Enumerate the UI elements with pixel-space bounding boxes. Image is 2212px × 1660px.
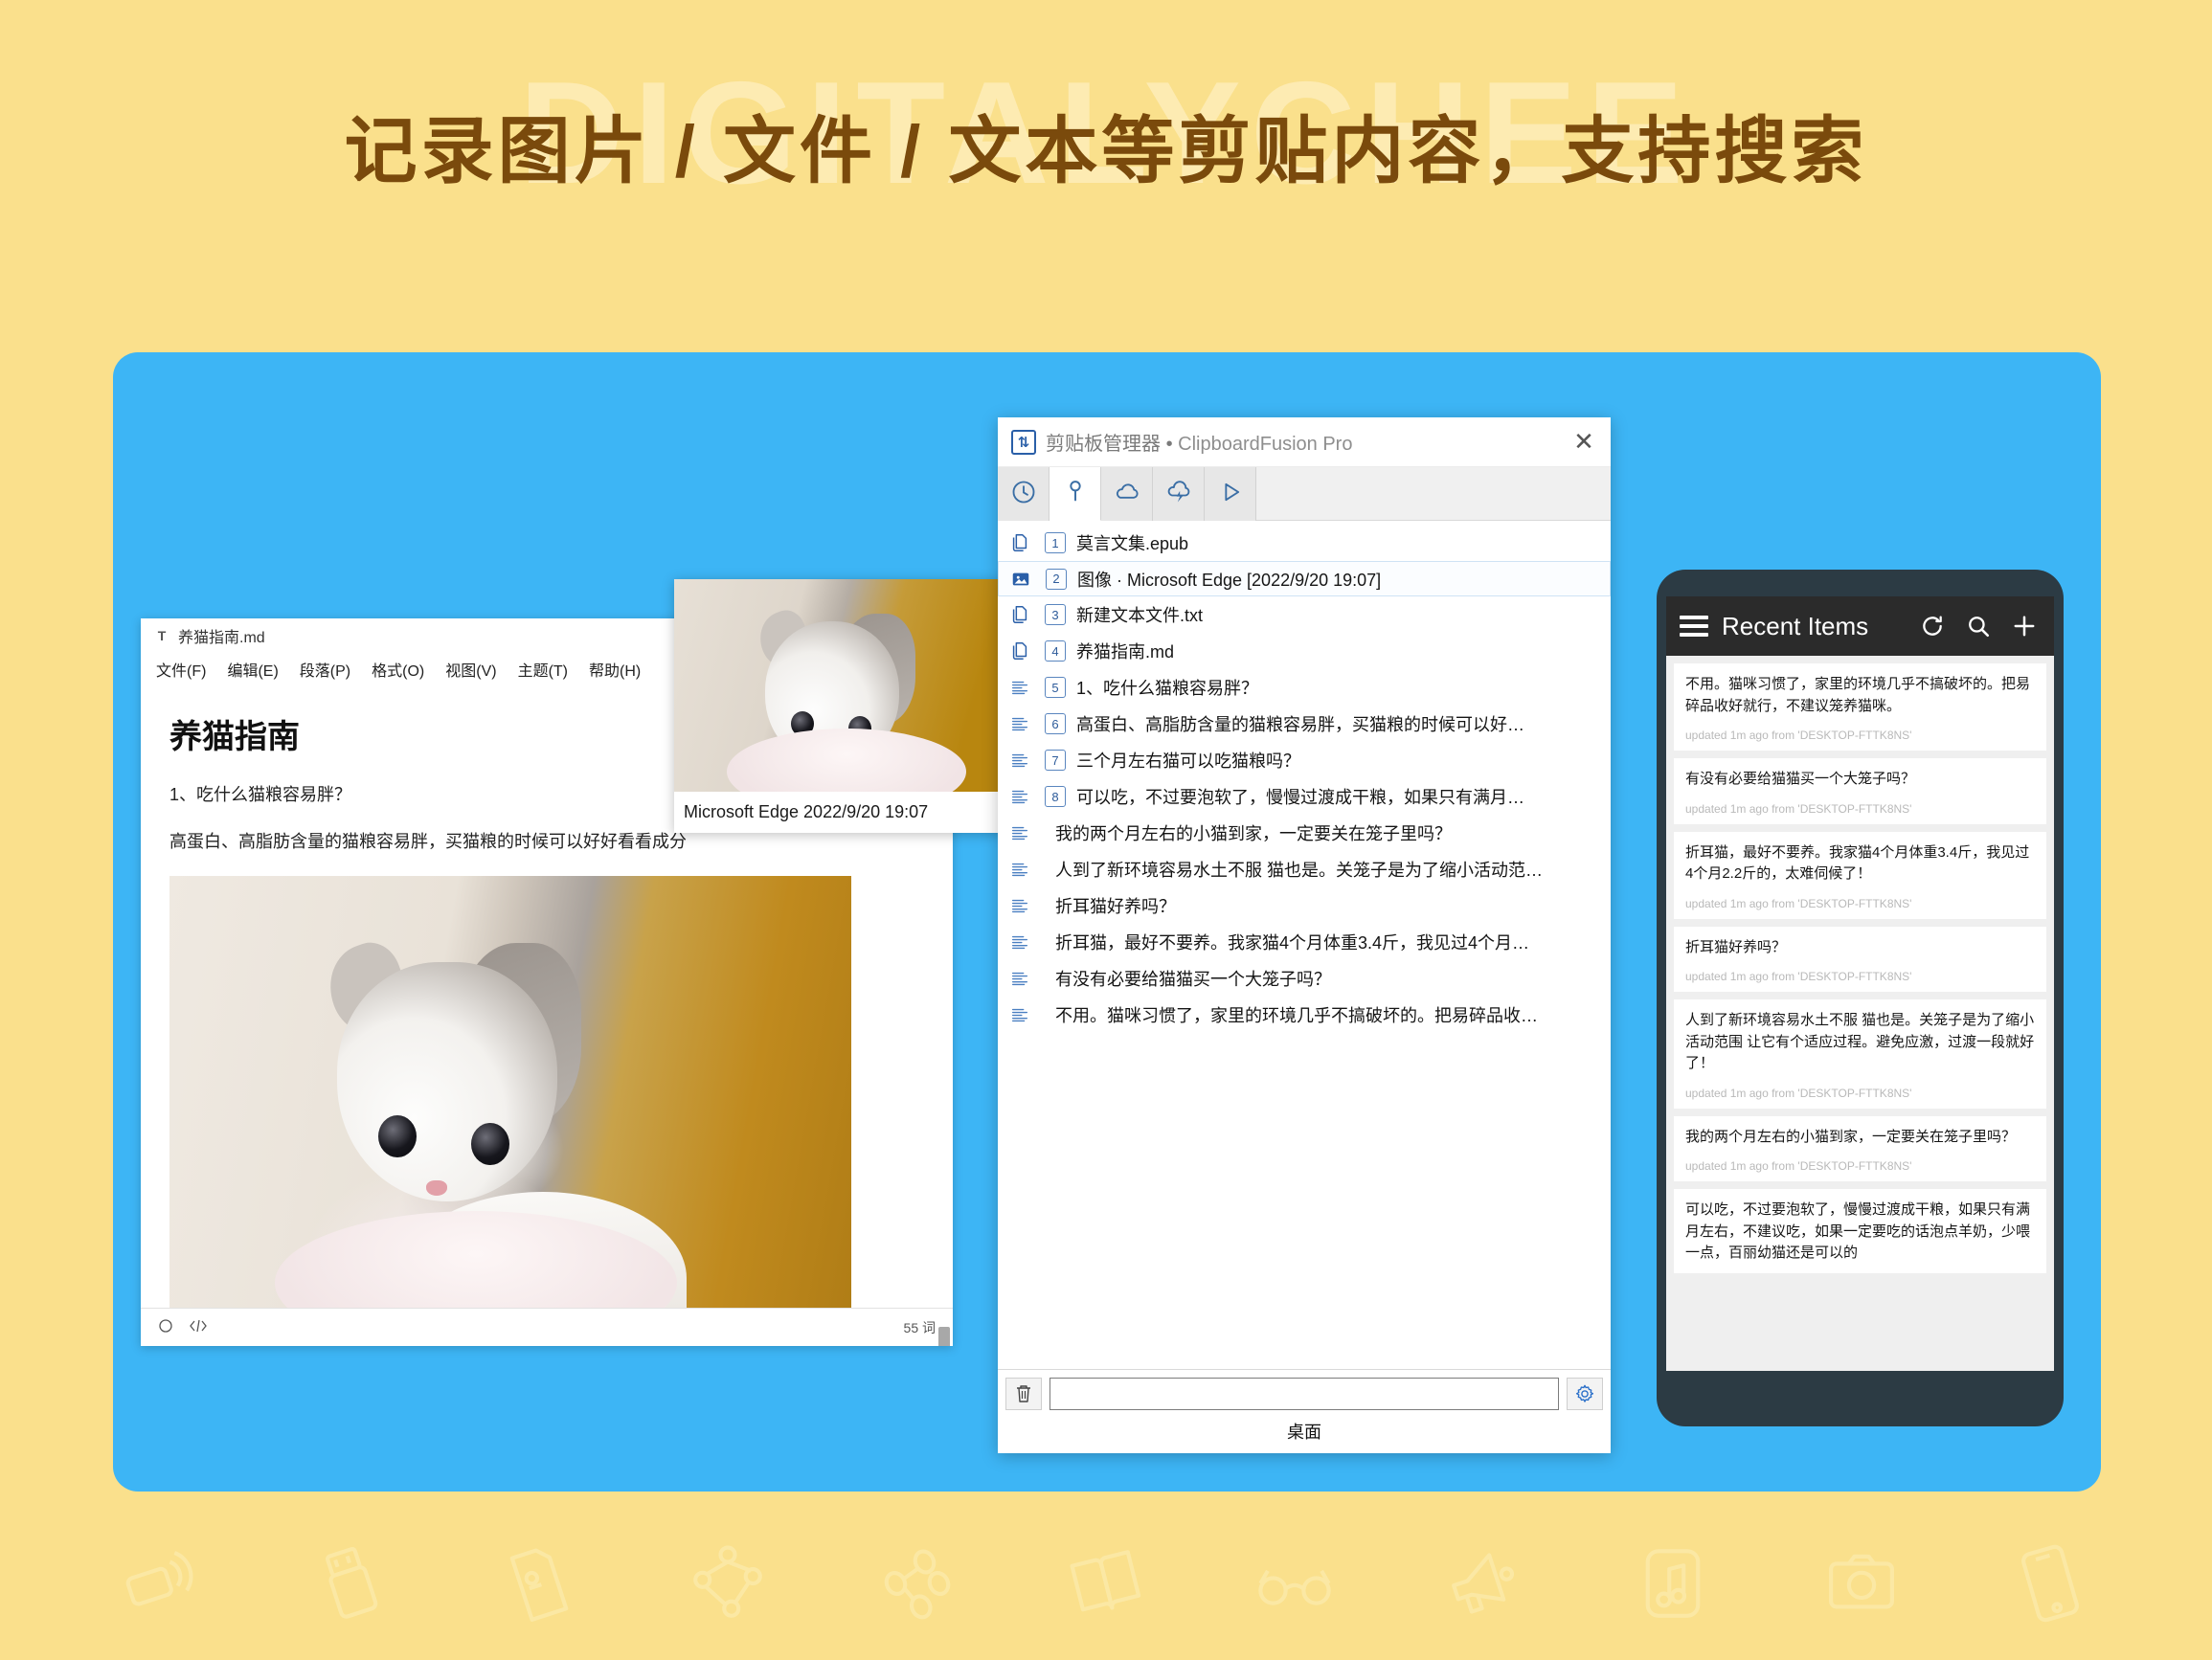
page-title: 记录图片 / 文件 / 文本等剪贴内容，支持搜索 (0, 92, 2212, 197)
menu-file[interactable]: 文件(F) (156, 658, 206, 681)
markdown-file-name: 养猫指南.md (178, 624, 265, 647)
text-lines-icon (1009, 713, 1034, 734)
text-lines-icon (1009, 677, 1034, 698)
close-icon[interactable]: ✕ (1567, 425, 1601, 460)
book-icon (1063, 1540, 1149, 1626)
item-index-badge: 7 (1045, 750, 1066, 771)
word-count: 55 词 (904, 1318, 936, 1337)
document-kitten-image (169, 876, 851, 1316)
menu-help[interactable]: 帮助(H) (589, 658, 641, 681)
phone-card-body: 折耳猫，最好不要养。我家猫4个月体重3.4斤，我见过4个月2.2斤的，太难伺候了… (1685, 842, 2035, 886)
text-lines-icon (1009, 859, 1034, 880)
clipboard-list-item[interactable]: 我的两个月左右的小猫到家，一定要关在笼子里吗？ (998, 815, 1611, 851)
clipboard-list-item[interactable]: 7三个月左右猫可以吃猫粮吗？ (998, 742, 1611, 778)
clipboard-list-item[interactable]: 6高蛋白、高脂肪含量的猫粮容易胖，买猫粮的时候可以好… (998, 706, 1611, 742)
phone-card[interactable]: 折耳猫，最好不要养。我家猫4个月体重3.4斤，我见过4个月2.2斤的，太难伺候了… (1674, 832, 2046, 919)
clipboard-app-title: 剪贴板管理器 (1046, 434, 1161, 455)
item-index-badge: 3 (1045, 604, 1066, 625)
item-index-badge: 1 (1045, 532, 1066, 553)
phone-card-body: 有没有必要给猫猫买一个大笼子吗？ (1685, 769, 2035, 791)
clipboard-tabbar (998, 467, 1611, 521)
search-icon[interactable] (1962, 610, 1995, 642)
megaphone-icon (1440, 1540, 1526, 1626)
phone-card-body: 折耳猫好养吗？ (1685, 937, 2035, 959)
image-preview-caption: Microsoft Edge 2022/9/20 19:07 (674, 792, 1004, 833)
share-nodes-icon (874, 1540, 960, 1626)
glasses-icon (1252, 1540, 1338, 1626)
file-copy-icon (1009, 604, 1034, 625)
circle-icon[interactable] (158, 1318, 173, 1337)
clipboard-list-item[interactable]: 折耳猫好养吗？ (998, 887, 1611, 924)
clipboard-item-text: 养猫指南.md (1076, 639, 1174, 663)
phone-card-meta: updated 1m ago from 'DESKTOP-FTTK8NS' (1685, 1159, 2035, 1173)
item-index-badge: 5 (1045, 677, 1066, 698)
item-index-badge: 8 (1045, 786, 1066, 807)
phone-card-meta: updated 1m ago from 'DESKTOP-FTTK8NS' (1685, 970, 2035, 983)
clipboard-item-text: 我的两个月左右的小猫到家，一定要关在笼子里吗？ (1055, 820, 1452, 845)
item-index-badge: 4 (1045, 640, 1066, 662)
image-preview-window: Microsoft Edge 2022/9/20 19:07 (674, 579, 1004, 833)
clipboard-item-text: 人到了新环境容易水土不服 猫也是。关笼子是为了缩小活动范… (1055, 857, 1543, 882)
phone-card-body: 人到了新环境容易水土不服 猫也是。关笼子是为了缩小活动范围 让它有个适应过程。避… (1685, 1010, 2035, 1075)
text-lines-icon (1009, 1004, 1034, 1025)
clipboard-list-item[interactable]: 3新建文本文件.txt (998, 596, 1611, 633)
item-index-badge: 2 (1046, 569, 1067, 590)
clipboard-item-text: 有没有必要给猫猫买一个大笼子吗？ (1055, 966, 1331, 991)
document-paragraph-2: 高蛋白、高脂肪含量的猫粮容易胖，买猫粮的时候可以好好看看成分 (169, 829, 924, 855)
usb-icon (307, 1540, 394, 1626)
clipboard-list-item[interactable]: 人到了新环境容易水土不服 猫也是。关笼子是为了缩小活动范… (998, 851, 1611, 887)
phone-card[interactable]: 可以吃，不过要泡软了，慢慢过渡成干粮，如果只有满月左右，不建议吃，如果一定要吃的… (1674, 1189, 2046, 1273)
menu-edit[interactable]: 编辑(E) (227, 658, 278, 681)
item-index-badge: 6 (1045, 713, 1066, 734)
menu-format[interactable]: 格式(O) (372, 658, 424, 681)
clipboard-item-text: 高蛋白、高脂肪含量的猫粮容易胖，买猫粮的时候可以好… (1076, 711, 1524, 736)
refresh-icon[interactable] (1916, 610, 1949, 642)
tab-pinned[interactable] (1050, 467, 1101, 521)
hamburger-icon[interactable] (1680, 616, 1708, 637)
phone-device-icon (2007, 1540, 2093, 1626)
text-file-icon: T (154, 628, 169, 643)
menu-view[interactable]: 视图(V) (445, 658, 496, 681)
phone-screen: Recent Items 不用。猫咪习惯了，家里的环境几乎不搞破坏的。把易碎品收… (1666, 596, 2054, 1371)
clipboard-list-item[interactable]: 1莫言文集.epub (998, 525, 1611, 561)
phone-card-meta: updated 1m ago from 'DESKTOP-FTTK8NS' (1685, 802, 2035, 816)
phone-card[interactable]: 有没有必要给猫猫买一个大笼子吗？updated 1m ago from 'DES… (1674, 758, 2046, 824)
text-lines-icon (1009, 931, 1034, 953)
clock-icon (1010, 479, 1037, 510)
text-lines-icon (1009, 822, 1034, 843)
music-note-icon (1630, 1540, 1716, 1626)
tab-history[interactable] (998, 467, 1050, 521)
sd-card-icon (496, 1540, 582, 1626)
decorative-icon-strip (0, 1507, 2212, 1660)
phone-card[interactable]: 折耳猫好养吗？updated 1m ago from 'DESKTOP-FTTK… (1674, 927, 2046, 993)
clipboard-item-text: 图像 · Microsoft Edge [2022/9/20 19:07] (1077, 567, 1381, 592)
image-icon (1010, 569, 1035, 590)
phone-card-body: 不用。猫咪习惯了，家里的环境几乎不搞破坏的。把易碎品收好就行，不建议笼养猫咪。 (1685, 674, 2035, 717)
clipboard-item-text: 新建文本文件.txt (1076, 602, 1203, 627)
clipboard-sync-icon: ⇅ (1011, 430, 1036, 455)
play-icon (1217, 479, 1244, 510)
code-icon[interactable] (189, 1318, 208, 1337)
cloud-icon (1114, 479, 1140, 510)
text-lines-icon (1009, 895, 1034, 916)
tab-cloud[interactable] (1101, 467, 1153, 521)
clipboard-item-list[interactable]: 1莫言文集.epub2图像 · Microsoft Edge [2022/9/2… (998, 521, 1611, 1369)
clipboard-list-item[interactable]: 51、吃什么猫粮容易胖？ (998, 669, 1611, 706)
tab-macros[interactable] (1205, 467, 1256, 521)
clipboard-list-item[interactable]: 不用。猫咪习惯了，家里的环境几乎不搞破坏的。把易碎品收… (998, 997, 1611, 1033)
clipboard-item-text: 三个月左右猫可以吃猫粮吗？ (1076, 748, 1300, 773)
clipboard-product-name: ClipboardFusion Pro (1178, 434, 1352, 455)
trash-icon[interactable] (1005, 1378, 1042, 1410)
clipboard-bottom-bar: 桌面 (998, 1369, 1611, 1453)
phone-card[interactable]: 不用。猫咪习惯了，家里的环境几乎不搞破坏的。把易碎品收好就行，不建议笼养猫咪。u… (1674, 663, 2046, 751)
swipe-card-icon (119, 1540, 205, 1626)
phone-mockup: Recent Items 不用。猫咪习惯了，家里的环境几乎不搞破坏的。把易碎品收… (1657, 570, 2064, 1426)
menu-paragraph[interactable]: 段落(P) (300, 658, 350, 681)
search-input[interactable] (1050, 1378, 1559, 1410)
clipboard-titlebar: ⇅ 剪贴板管理器 • ClipboardFusion Pro ✕ (998, 417, 1611, 467)
preview-kitten-image (674, 579, 1004, 792)
plus-icon[interactable] (2008, 610, 2041, 642)
menu-theme[interactable]: 主题(T) (518, 658, 568, 681)
title-separator: • (1166, 434, 1173, 455)
phone-card-meta: updated 1m ago from 'DESKTOP-FTTK8NS' (1685, 1087, 2035, 1100)
network-nodes-icon (685, 1540, 771, 1626)
text-lines-icon (1009, 750, 1034, 771)
cloud-lightning-icon (1165, 479, 1192, 510)
clipboard-item-text: 可以吃，不过要泡软了，慢慢过渡成干粮，如果只有满月… (1076, 784, 1524, 809)
clipboard-list-item[interactable]: 折耳猫，最好不要养。我家猫4个月体重3.4斤，我见过4个月… (998, 924, 1611, 960)
phone-card[interactable]: 人到了新环境容易水土不服 猫也是。关笼子是为了缩小活动范围 让它有个适应过程。避… (1674, 999, 2046, 1109)
clipboard-list-item[interactable]: 2图像 · Microsoft Edge [2022/9/20 19:07] (998, 561, 1611, 596)
phone-card-meta: updated 1m ago from 'DESKTOP-FTTK8NS' (1685, 897, 2035, 910)
pin-icon (1062, 478, 1089, 509)
clipboard-item-text: 折耳猫好养吗？ (1055, 893, 1176, 918)
file-copy-icon (1009, 640, 1034, 662)
tab-triggers[interactable] (1153, 467, 1205, 521)
phone-appbar: Recent Items (1666, 596, 2054, 656)
phone-card-list[interactable]: 不用。猫咪习惯了，家里的环境几乎不搞破坏的。把易碎品收好就行，不建议笼养猫咪。u… (1666, 656, 2054, 1273)
clipboard-manager-window: ⇅ 剪贴板管理器 • ClipboardFusion Pro ✕ (998, 417, 1611, 1453)
phone-card[interactable]: 我的两个月左右的小猫到家，一定要关在笼子里吗？updated 1m ago fr… (1674, 1116, 2046, 1182)
markdown-scrollbar[interactable] (938, 1327, 950, 1346)
clipboard-list-item[interactable]: 8可以吃，不过要泡软了，慢慢过渡成干粮，如果只有满月… (998, 778, 1611, 815)
clipboard-list-item[interactable]: 有没有必要给猫猫买一个大笼子吗？ (998, 960, 1611, 997)
phone-title: Recent Items (1722, 612, 1868, 641)
gear-icon[interactable] (1567, 1378, 1603, 1410)
file-copy-icon (1009, 532, 1034, 553)
phone-card-meta: updated 1m ago from 'DESKTOP-FTTK8NS' (1685, 729, 2035, 742)
clipboard-list-item[interactable]: 4养猫指南.md (998, 633, 1611, 669)
phone-card-body: 可以吃，不过要泡软了，慢慢过渡成干粮，如果只有满月左右，不建议吃，如果一定要吃的… (1685, 1200, 2035, 1265)
clipboard-item-text: 莫言文集.epub (1076, 530, 1188, 555)
clipboard-item-text: 1、吃什么猫粮容易胖？ (1076, 675, 1258, 700)
camera-icon (1818, 1540, 1905, 1626)
clipboard-footer-label: 桌面 (1005, 1410, 1603, 1453)
phone-card-body: 我的两个月左右的小猫到家，一定要关在笼子里吗？ (1685, 1127, 2035, 1149)
text-lines-icon (1009, 968, 1034, 989)
text-lines-icon (1009, 786, 1034, 807)
clipboard-item-text: 不用。猫咪习惯了，家里的环境几乎不搞破坏的。把易碎品收… (1055, 1002, 1538, 1027)
markdown-statusbar: 55 词 (141, 1308, 953, 1346)
clipboard-item-text: 折耳猫，最好不要养。我家猫4个月体重3.4斤，我见过4个月… (1055, 930, 1529, 954)
